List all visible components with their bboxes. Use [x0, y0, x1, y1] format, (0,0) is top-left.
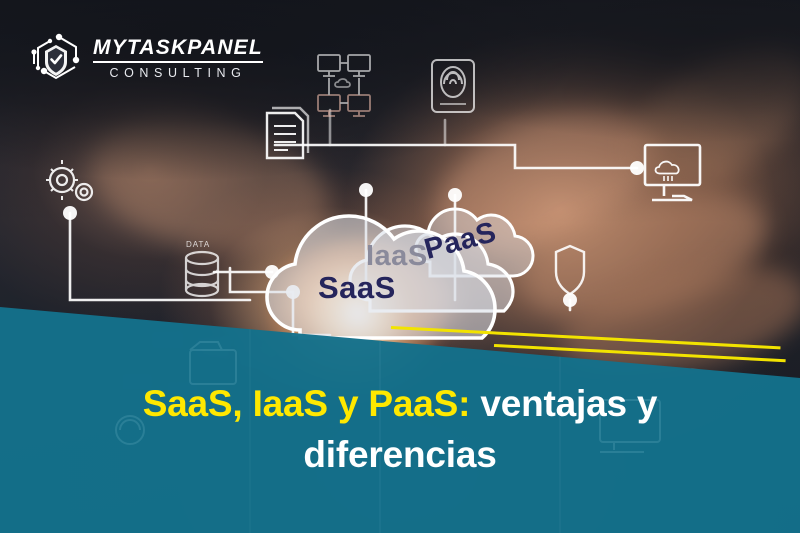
page-title: SaaS, IaaS y PaaS: ventajas y diferencia… [50, 378, 750, 480]
cloud-label-iaas: IaaS [366, 240, 428, 273]
page-title-highlight: SaaS, IaaS y PaaS: [143, 383, 471, 424]
hexagon-shield-check-icon [28, 30, 84, 86]
logo-text-group: MYTASKPANEL CONSULTING [93, 37, 263, 80]
cloud-label-saas: SaaS [318, 270, 396, 306]
database-label: DATA [186, 240, 210, 249]
banner: PaaS IaaS SaaS DATA [0, 0, 800, 533]
logo-wordmark: MYTASKPANEL [93, 37, 263, 61]
logo-subtitle: CONSULTING [93, 67, 263, 80]
brand-logo[interactable]: MYTASKPANEL CONSULTING [28, 30, 263, 86]
logo-divider [93, 61, 263, 63]
